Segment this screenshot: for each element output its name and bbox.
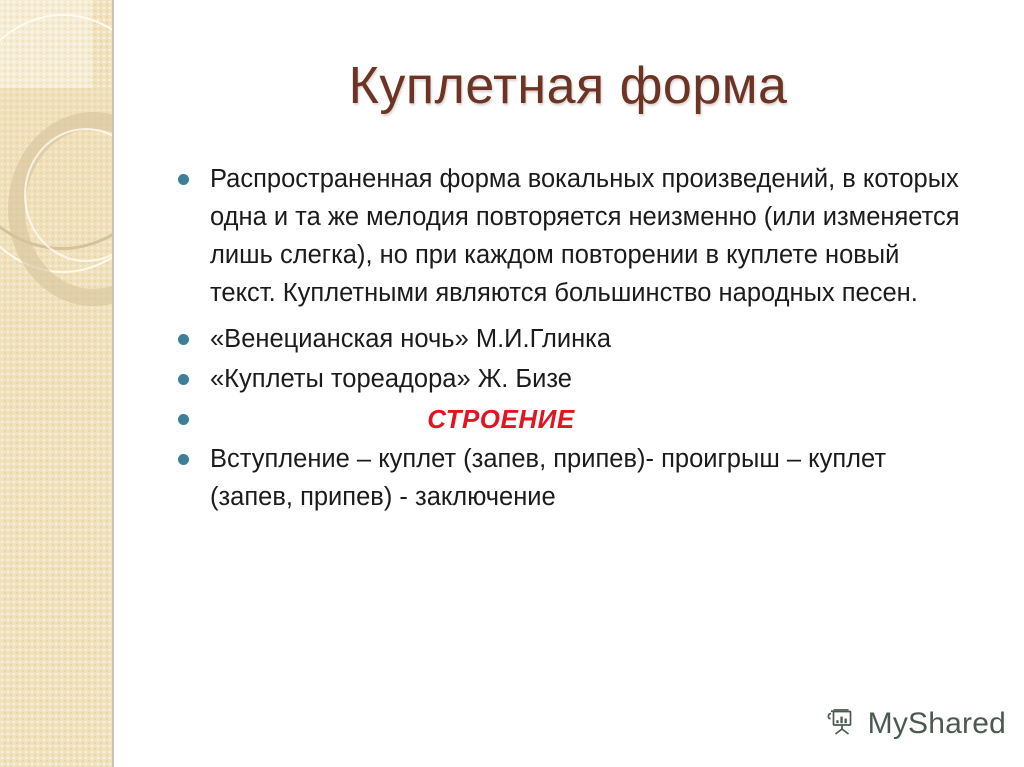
list-item-example-glinka: «Венецианская ночь» М.И.Глинка — [172, 320, 972, 358]
list-item-text: Вступление – куплет (запев, припев)- про… — [210, 440, 972, 516]
list-item-example-bizet: «Куплеты тореадора» Ж. Бизе — [172, 360, 972, 398]
bullet-dot-icon — [178, 334, 189, 345]
watermark-label: MyShared — [868, 707, 1006, 741]
presentation-slide: Куплетная форма Распространенная форма в… — [0, 0, 1024, 767]
list-item-definition: Распространенная форма вокальных произве… — [172, 160, 972, 312]
decorative-sidebar — [0, 0, 114, 767]
myshared-watermark: MyShared — [825, 704, 1006, 743]
list-item-text: «Куплеты тореадора» Ж. Бизе — [210, 360, 972, 398]
presentation-chart-icon — [825, 704, 859, 743]
list-item-text: «Венецианская ночь» М.И.Глинка — [210, 320, 972, 358]
bullet-dot-icon — [178, 414, 189, 425]
list-item-structure-heading: СТРОЕНИЕ — [172, 400, 972, 438]
bullet-list: Распространенная форма вокальных произве… — [172, 160, 972, 522]
structure-heading-text: СТРОЕНИЕ — [210, 400, 972, 438]
list-item-structure-scheme: Вступление – куплет (запев, припев)- про… — [172, 440, 972, 516]
page-title: Куплетная форма — [120, 56, 1016, 116]
bullet-dot-icon — [178, 374, 189, 385]
list-item-text: Распространенная форма вокальных произве… — [210, 160, 972, 312]
bullet-dot-icon — [178, 174, 189, 185]
bullet-dot-icon — [178, 454, 189, 465]
